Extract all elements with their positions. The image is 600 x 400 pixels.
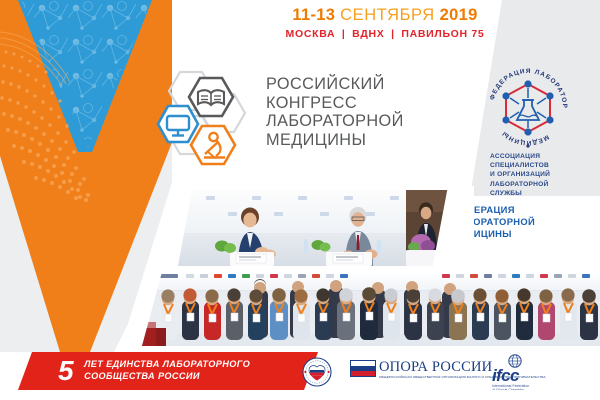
right-grey-panel: ФЕДЕРАЦИЯ ЛАБОРАТОРНОЙ МЕДИЦИНЫ bbox=[470, 0, 600, 196]
event-venue: ВДНХ bbox=[352, 28, 384, 40]
event-date-month: СЕНТЯБРЯ bbox=[340, 6, 435, 24]
event-city: МОСКВА bbox=[286, 28, 336, 40]
congress-title-line-1: РОССИЙСКИЙ bbox=[266, 75, 404, 94]
anniversary-number: 5 bbox=[58, 357, 73, 385]
hexagon-logo-group bbox=[150, 68, 256, 176]
anniversary-text-line-1: ЛЕТ ЕДИНСТВА ЛАБОРАТОРНОГО bbox=[84, 359, 250, 371]
group-photo bbox=[142, 272, 600, 346]
anniversary-text-line-2: СООБЩЕСТВА РОССИИ bbox=[84, 371, 250, 383]
anniversary-text: ЛЕТ ЕДИНСТВА ЛАБОРАТОРНОГО СООБЩЕСТВА РО… bbox=[84, 359, 250, 382]
congress-title-line-2: КОНГРЕСС bbox=[266, 94, 404, 113]
congress-poster: 11-13 СЕНТЯБРЯ 2019 МОСКВА | ВДНХ | ПАВИ… bbox=[0, 0, 600, 400]
place-separator-2: | bbox=[388, 28, 398, 40]
monitor-icon bbox=[158, 106, 198, 142]
open-book-icon bbox=[189, 78, 233, 116]
ifcc-globe-icon bbox=[508, 354, 522, 368]
congress-title: РОССИЙСКИЙ КОНГРЕСС ЛАБОРАТОРНОЙ МЕДИЦИН… bbox=[266, 75, 404, 149]
association-text: АССОЦИАЦИЯ СПЕЦИАЛИСТОВ И ОРГАНИЗАЦИЙ ЛА… bbox=[490, 152, 600, 196]
association-line-4: ЛАБОРАТОРНОЙ bbox=[490, 180, 600, 189]
ifcc-wordmark: ifcc bbox=[492, 367, 531, 384]
association-line-5: СЛУЖБЫ bbox=[490, 189, 600, 196]
congress-title-line-4: МЕДИЦИНЫ bbox=[266, 131, 404, 150]
anniversary-banner: 5 ЛЕТ ЕДИНСТВА ЛАБОРАТОРНОГО СООБЩЕСТВА … bbox=[18, 352, 318, 390]
federation-emblem: ФЕДЕРАЦИЯ ЛАБОРАТОРНОЙ МЕДИЦИНЫ bbox=[482, 62, 574, 154]
place-separator-1: | bbox=[339, 28, 349, 40]
russian-flag-icon bbox=[350, 360, 376, 377]
asl-circle-logo bbox=[302, 357, 332, 387]
microscope-icon bbox=[191, 126, 235, 164]
association-line-2: СПЕЦИАЛИСТОВ bbox=[490, 161, 600, 170]
group-photo-people bbox=[142, 272, 600, 346]
association-line-3: И ОРГАНИЗАЦИЙ bbox=[490, 170, 600, 179]
panel-discussion-photo bbox=[178, 190, 460, 266]
congress-title-line-3: ЛАБОРАТОРНОЙ bbox=[266, 112, 404, 131]
congress-branding: РОССИЙСКИЙ КОНГРЕСС ЛАБОРАТОРНОЙ МЕДИЦИН… bbox=[150, 68, 404, 176]
panel-speakers bbox=[178, 190, 460, 266]
association-line-1: АССОЦИАЦИЯ bbox=[490, 152, 600, 161]
bottom-white-strip bbox=[0, 390, 600, 400]
event-date-days: 11-13 bbox=[292, 6, 335, 24]
